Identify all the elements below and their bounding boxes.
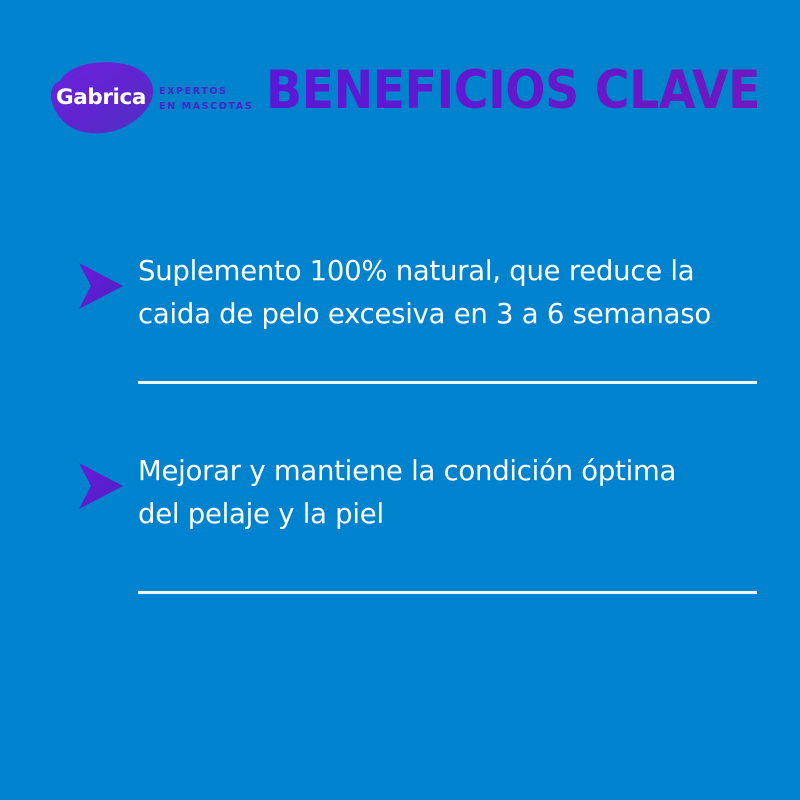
chevron-right-icon xyxy=(78,462,124,510)
benefit-divider xyxy=(138,591,757,594)
benefits-list: Suplemento 100% natural, que reduce la c… xyxy=(0,0,800,800)
benefit-text: Mejorar y mantiene la condición óptima d… xyxy=(138,450,763,536)
benefit-text: Suplemento 100% natural, que reduce la c… xyxy=(138,250,763,336)
benefits-poster: Gabrica EXPERTOS EN MASCOTAS BENEFICIOS … xyxy=(0,0,800,800)
benefit-divider xyxy=(138,381,757,384)
chevron-right-icon xyxy=(78,262,124,310)
